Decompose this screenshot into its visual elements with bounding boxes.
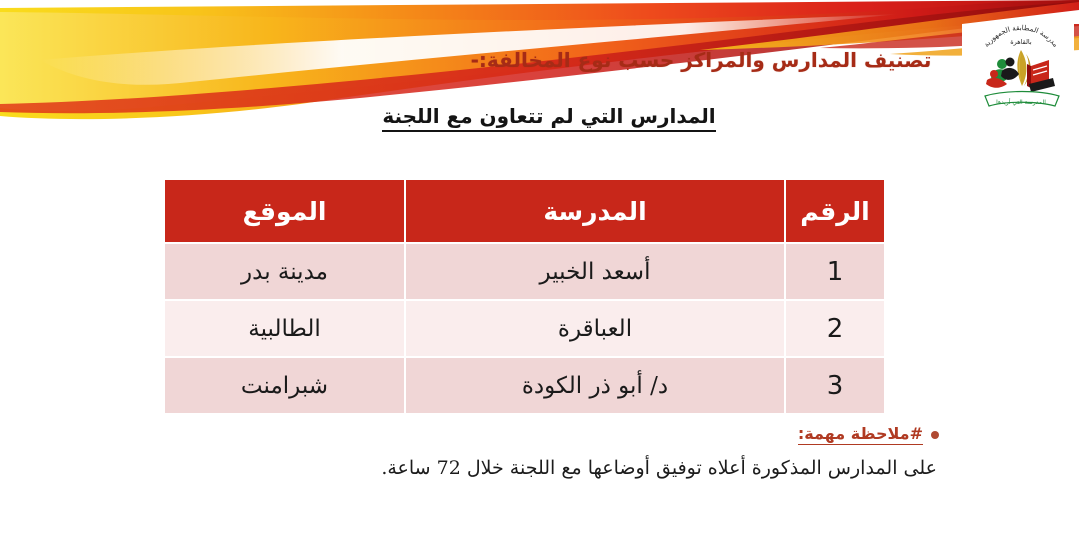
bullet-icon (931, 431, 939, 439)
svg-text:المدرسة التي أريدها: المدرسة التي أريدها (996, 98, 1046, 106)
table-row: 1 أسعد الخبير مدينة بدر (165, 244, 884, 301)
table-row: 3 د/ أبو ذر الكودة شبرامنت (165, 358, 884, 415)
note-heading-row: #ملاحظة مهمة: (139, 424, 939, 445)
schools-table: الرقم المدرسة الموقع 1 أسعد الخبير مدينة… (165, 180, 884, 415)
column-header-school: المدرسة (404, 180, 784, 244)
important-note-block: #ملاحظة مهمة: على المدارس المذكورة أعلاه… (139, 424, 939, 479)
slide-subtitle: المدارس التي لم تتعاون مع اللجنة (319, 104, 779, 132)
cell-school: العباقرة (404, 301, 784, 358)
school-emblem-logo: مدرسة المطابقة الجمهورية بالقاهرة المدرس… (969, 14, 1073, 114)
cell-location: شبرامنت (165, 358, 404, 415)
column-header-location: الموقع (165, 180, 404, 244)
slide-title: تصنيف المدارس والمراكز حسب نوع المخالفة:… (441, 48, 961, 72)
table-body: 1 أسعد الخبير مدينة بدر 2 العباقرة الطال… (165, 244, 884, 415)
cell-school: د/ أبو ذر الكودة (404, 358, 784, 415)
cell-location: الطالبية (165, 301, 404, 358)
cell-location: مدينة بدر (165, 244, 404, 301)
cell-number: 1 (784, 244, 884, 301)
cell-number: 3 (784, 358, 884, 415)
note-body-text: على المدارس المذكورة أعلاه توفيق أوضاعها… (139, 457, 939, 479)
column-header-number: الرقم (784, 180, 884, 244)
schools-table-container: الرقم المدرسة الموقع 1 أسعد الخبير مدينة… (165, 180, 884, 415)
svg-text:بالقاهرة: بالقاهرة (1010, 38, 1032, 46)
presentation-slide: مدرسة المطابقة الجمهورية بالقاهرة المدرس… (0, 0, 1079, 557)
table-row: 2 العباقرة الطالبية (165, 301, 884, 358)
slide-subtitle-text: المدارس التي لم تتعاون مع اللجنة (382, 104, 715, 132)
cell-number: 2 (784, 301, 884, 358)
note-heading: #ملاحظة مهمة: (798, 424, 923, 445)
table-head: الرقم المدرسة الموقع (165, 180, 884, 244)
table-header-row: الرقم المدرسة الموقع (165, 180, 884, 244)
cell-school: أسعد الخبير (404, 244, 784, 301)
